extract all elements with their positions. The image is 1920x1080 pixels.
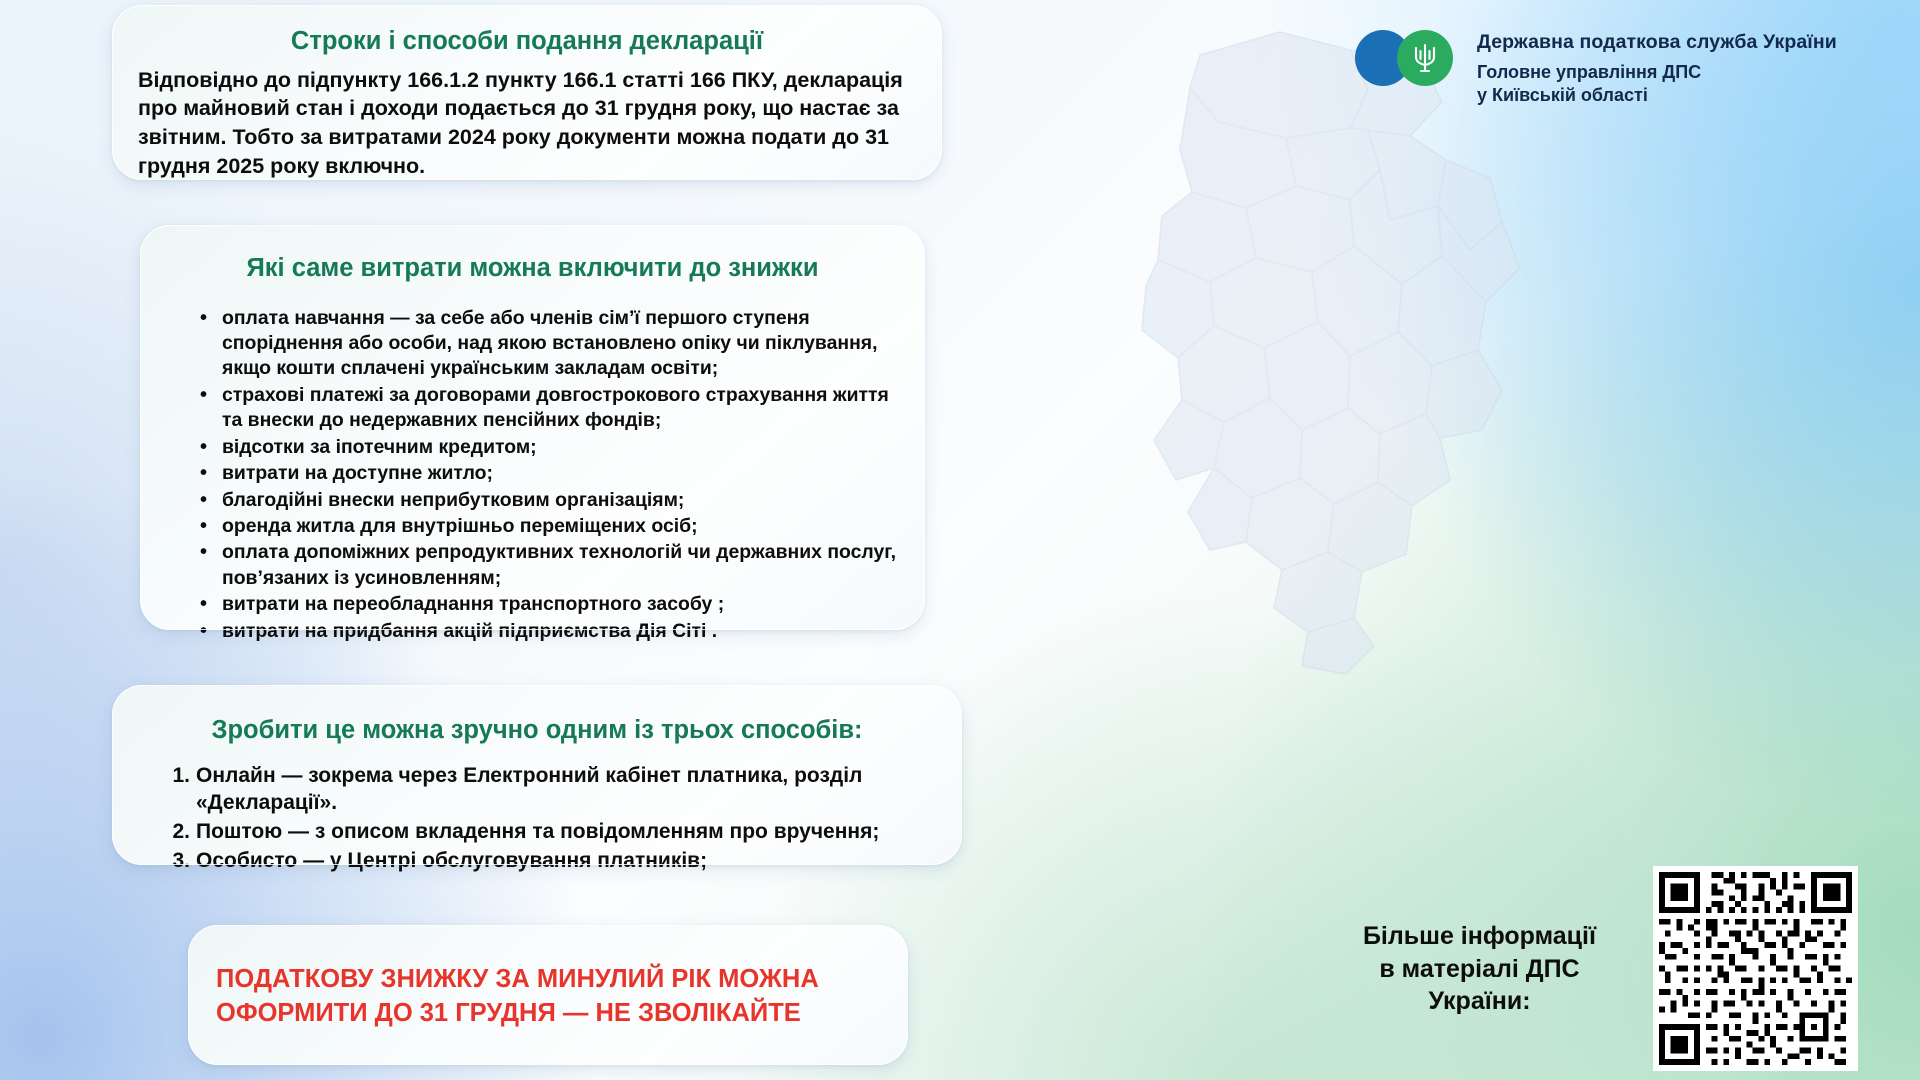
alert-text: ПОДАТКОВУ ЗНИЖКУ ЗА МИНУЛИЙ РІК МОЖНА ОФ… [216, 963, 880, 1030]
methods-list: Онлайн — зокрема через Електронний кабін… [136, 762, 938, 875]
card-terms-and-methods: Строки і способи подання декларації Відп… [112, 5, 942, 180]
card-terms-title: Строки і способи подання декларації [138, 26, 916, 57]
qr-caption: Більше інформації в матеріалі ДПС Україн… [1342, 920, 1617, 1018]
card-deadline-alert: ПОДАТКОВУ ЗНИЖКУ ЗА МИНУЛИЙ РІК МОЖНА ОФ… [188, 925, 908, 1065]
org-name: Державна податкова служба України Головн… [1477, 22, 1837, 108]
card-methods-title: Зробити це можна зручно одним із трьох с… [136, 715, 938, 746]
list-item: благодійні внески неприбутковим організа… [200, 488, 901, 513]
logo-circle-green-icon [1397, 30, 1453, 86]
infographic-poster: Державна податкова служба України Головн… [0, 0, 1920, 1080]
list-item: витрати на доступне житло; [200, 461, 901, 486]
list-item: Онлайн — зокрема через Електронний кабін… [164, 762, 938, 817]
qr-caption-line-2: в матеріалі ДПС [1342, 953, 1617, 986]
trident-icon [1412, 41, 1438, 75]
list-item: витрати на придбання акцій підприємства … [200, 619, 901, 644]
qr-caption-line-1: Більше інформації [1342, 920, 1617, 953]
dps-logo-block: Державна податкова служба України Головн… [1355, 22, 1837, 108]
list-item: Особисто — у Центрі обслуговування платн… [164, 847, 938, 875]
kyiv-oblast-map-icon [1050, 10, 1610, 700]
card-terms-body: Відповідно до підпункту 166.1.2 пункту 1… [138, 66, 916, 181]
card-expenses-title: Які саме витрати можна включити до знижк… [164, 253, 901, 284]
qr-code-icon[interactable] [1653, 866, 1858, 1071]
org-line-1: Державна податкова служба України [1477, 30, 1837, 56]
card-eligible-expenses: Які саме витрати можна включити до знижк… [140, 225, 925, 630]
card-submission-methods: Зробити це можна зручно одним із трьох с… [112, 685, 962, 865]
alert-line-2: ОФОРМИТИ ДО 31 ГРУДНЯ — НЕ ЗВОЛІКАЙТЕ [216, 997, 880, 1031]
list-item: оренда житла для внутрішньо переміщених … [200, 514, 901, 539]
list-item: оплата допоміжних репродуктивних техноло… [200, 540, 901, 591]
expenses-list: оплата навчання — за себе або членів сім… [164, 306, 901, 644]
list-item: витрати на переобладнання транспортного … [200, 592, 901, 617]
qr-caption-line-3: України: [1342, 985, 1617, 1018]
org-line-3: у Київській області [1477, 84, 1837, 108]
alert-line-1: ПОДАТКОВУ ЗНИЖКУ ЗА МИНУЛИЙ РІК МОЖНА [216, 963, 880, 997]
list-item: Поштою — з описом вкладення та повідомле… [164, 818, 938, 846]
list-item: відсотки за іпотечним кредитом; [200, 435, 901, 460]
list-item: страхові платежі за договорами довгостро… [200, 383, 901, 434]
list-item: оплата навчання — за себе або членів сім… [200, 306, 901, 382]
org-line-2: Головне управління ДПС [1477, 61, 1837, 85]
logo-marks [1355, 22, 1463, 84]
